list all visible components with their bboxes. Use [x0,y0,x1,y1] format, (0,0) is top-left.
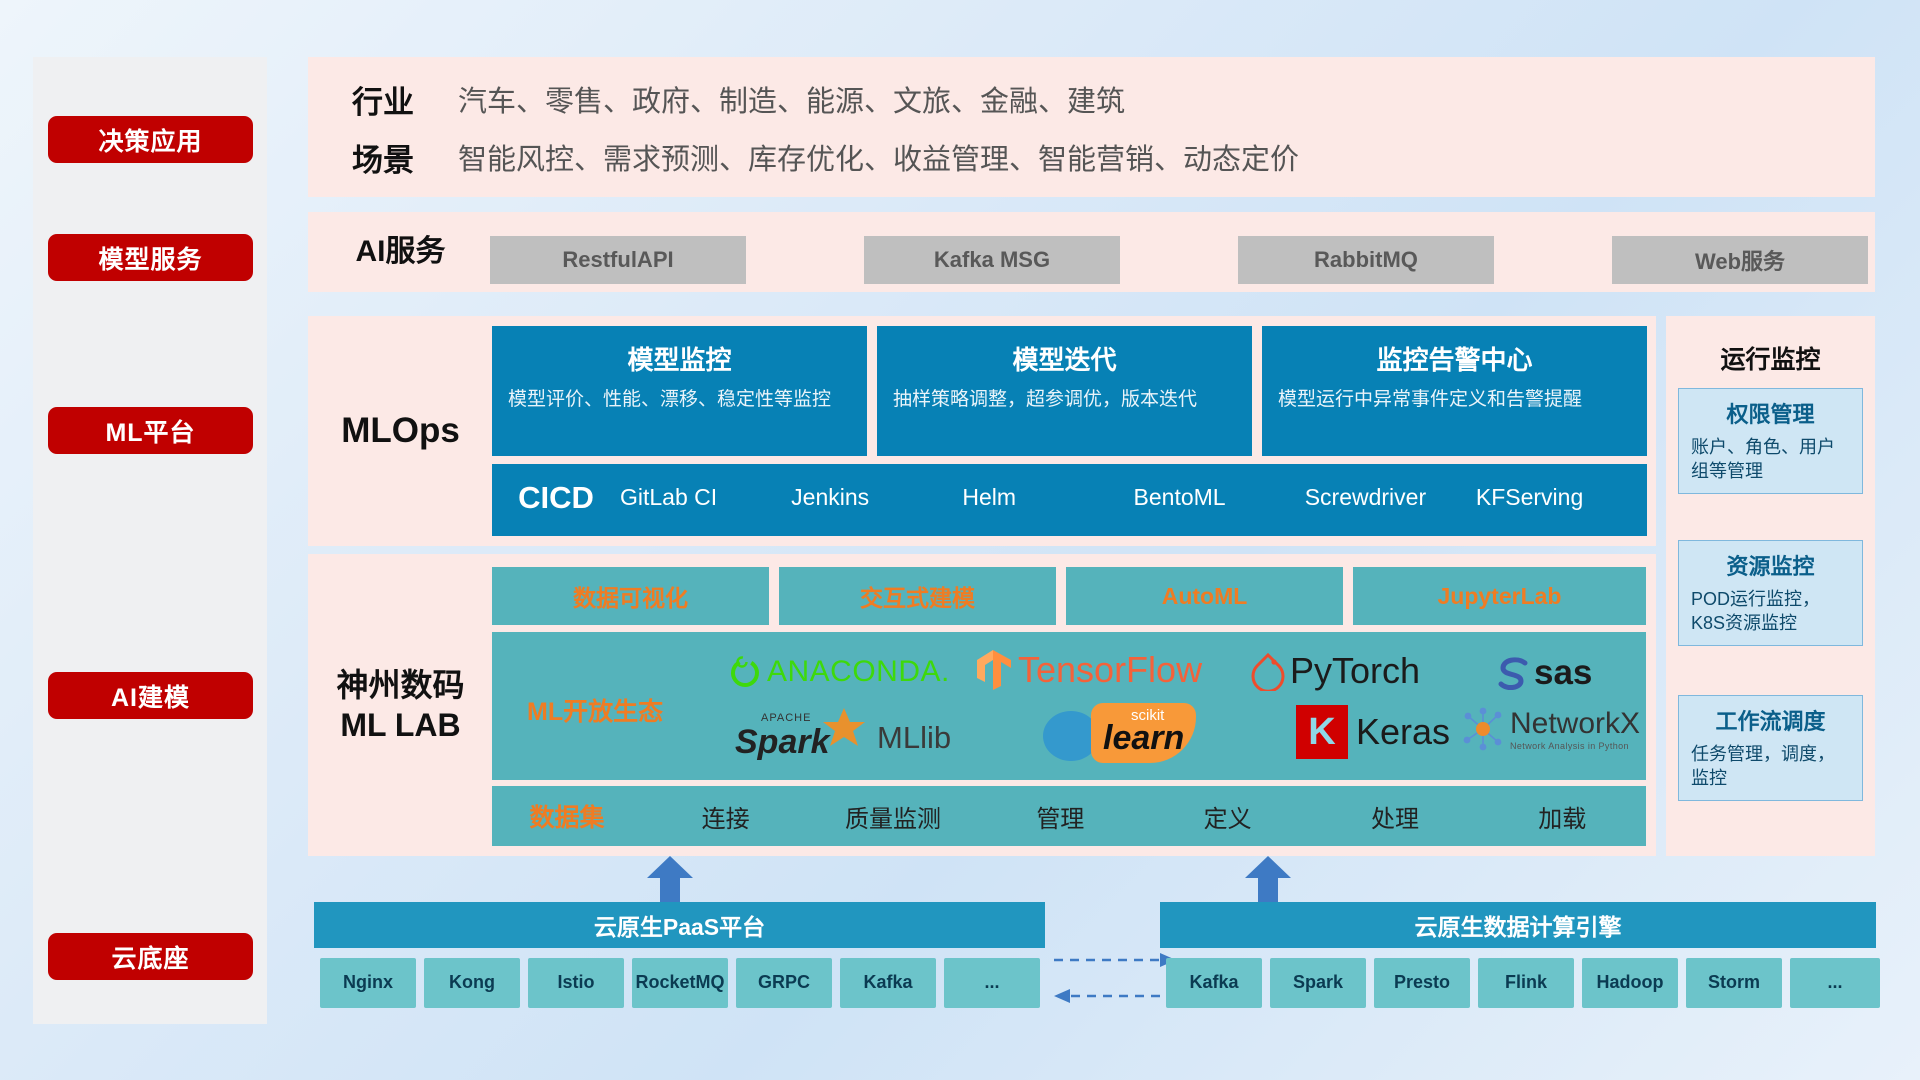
scikit-learn-text: learn [1103,719,1184,758]
cloud-chip-presto[interactable]: Presto [1374,958,1470,1008]
monitoring-card-resource[interactable]: 资源监控 POD运行监控，K8S资源监控 [1678,540,1863,646]
networkx-mark-icon [1460,706,1506,752]
dataset-bar: 数据集 连接 质量监测 管理 定义 处理 加载 [492,786,1646,846]
arrow-up-paas-icon [645,856,695,902]
bidirectional-dashed-connector-icon [1050,948,1180,1008]
decision-application-band: 行业 汽车、零售、政府、制造、能源、文旅、金融、建筑 场景 智能风控、需求预测、… [308,57,1875,197]
dataset-item-processing[interactable]: 处理 [1311,799,1478,834]
cloud-chip-kafka[interactable]: Kafka [840,958,936,1008]
pytorch-logo: PyTorch [1250,650,1420,692]
dataset-item-management[interactable]: 管理 [977,799,1144,834]
scene-label: 场景 [308,135,458,180]
ai-service-chip-rabbitmq[interactable]: RabbitMQ [1238,236,1494,284]
spark-mllib-logo: APACHE Spark MLlib [735,712,951,764]
mlops-card-desc: 模型评价、性能、漂移、稳定性等监控 [508,387,851,413]
cloud-chip-kong[interactable]: Kong [424,958,520,1008]
monitoring-card-desc: 任务管理，调度，监控 [1691,742,1850,791]
layer-tag-model-service[interactable]: 模型服务 [48,234,253,281]
cloud-chip-istio[interactable]: Istio [528,958,624,1008]
ai-service-chip-kafka-msg[interactable]: Kafka MSG [864,236,1120,284]
sas-logo-text: sas [1534,653,1592,693]
tensorflow-mark-icon [975,648,1015,692]
scene-row: 场景 智能风控、需求预测、库存优化、收益管理、智能营销、动态定价 [308,129,1875,185]
cicd-item-kfserving[interactable]: KFServing [1476,464,1647,512]
anaconda-logo: ANACONDA. [728,655,950,689]
layer-tag-decision[interactable]: 决策应用 [48,116,253,163]
cloud-chip-nginx[interactable]: Nginx [320,958,416,1008]
anaconda-mark-icon [728,655,762,689]
left-layer-rail [33,57,267,1024]
cloud-chip-spark[interactable]: Spark [1270,958,1366,1008]
monitoring-card-desc: 账户、角色、用户组等管理 [1691,435,1850,484]
cloud-chip-flink[interactable]: Flink [1478,958,1574,1008]
tensorflow-logo: TensorFlow [975,648,1202,692]
mlops-card-title: 模型监控 [508,340,851,377]
cicd-bar: CICD GitLab CI Jenkins Helm BentoML Scre… [492,464,1647,536]
industry-value: 汽车、零售、政府、制造、能源、文旅、金融、建筑 [458,78,1125,120]
networkx-logo-text: NetworkX [1510,707,1640,741]
monitoring-card-desc: POD运行监控，K8S资源监控 [1691,587,1850,636]
cloud-chip-more-right[interactable]: ... [1790,958,1880,1008]
mlops-card-desc: 模型运行中异常事件定义和告警提醒 [1278,387,1631,413]
ml-open-ecosystem-label: ML开放生态 [527,692,663,728]
dataset-item-quality-monitoring[interactable]: 质量监测 [809,799,976,834]
anaconda-logo-text: ANACONDA. [767,655,950,689]
monitoring-card-workflow[interactable]: 工作流调度 任务管理，调度，监控 [1678,695,1863,801]
cloud-chip-rocketmq[interactable]: RocketMQ [632,958,728,1008]
industry-label: 行业 [308,77,458,122]
ai-service-chip-web-service[interactable]: Web服务 [1612,236,1868,284]
tool-chip-interactive-modeling[interactable]: 交互式建模 [779,567,1056,625]
cicd-item-helm[interactable]: Helm [962,464,1133,512]
mlops-label: MLOps [308,316,493,546]
dataset-item-loading[interactable]: 加载 [1479,799,1646,834]
cloud-chip-storm[interactable]: Storm [1686,958,1782,1008]
dataset-item-definition[interactable]: 定义 [1144,799,1311,834]
sas-mark-icon [1495,655,1533,691]
cicd-label: CICD [492,464,620,516]
mllib-logo-text: MLlib [877,720,951,756]
sas-logo: sas [1495,653,1592,693]
dataset-label: 数据集 [492,798,642,834]
monitoring-card-title: 资源监控 [1691,549,1850,581]
arrow-up-data-engine-icon [1243,856,1293,902]
layer-tag-ml-platform[interactable]: ML平台 [48,407,253,454]
ml-lab-label: 神州数码 ML LAB [308,554,493,856]
monitoring-card-permission[interactable]: 权限管理 账户、角色、用户组等管理 [1678,388,1863,494]
ml-lab-label-line2: ML LAB [340,705,460,745]
cloud-native-paas-bar[interactable]: 云原生PaaS平台 [314,902,1045,948]
monitoring-title: 运行监控 [1666,340,1875,376]
pytorch-logo-text: PyTorch [1290,650,1420,692]
mlops-card-model-monitoring[interactable]: 模型监控 模型评价、性能、漂移、稳定性等监控 [492,326,867,456]
tool-chip-data-visualization[interactable]: 数据可视化 [492,567,769,625]
ml-lab-label-line1: 神州数码 [336,665,464,705]
mlops-card-desc: 抽样策略调整，超参调优，版本迭代 [893,387,1236,413]
cloud-chip-hadoop[interactable]: Hadoop [1582,958,1678,1008]
pytorch-mark-icon [1250,651,1286,691]
mlops-card-model-iteration[interactable]: 模型迭代 抽样策略调整，超参调优，版本迭代 [877,326,1252,456]
mlops-card-alert-center[interactable]: 监控告警中心 模型运行中异常事件定义和告警提醒 [1262,326,1647,456]
networkx-logo: NetworkX Network Analysis in Python [1460,706,1640,752]
keras-mark-icon: K [1296,705,1348,759]
layer-tag-cloud-base[interactable]: 云底座 [48,933,253,980]
cicd-item-screwdriver[interactable]: Screwdriver [1305,464,1476,512]
spark-logo-text: Spark [735,723,830,762]
monitoring-card-title: 权限管理 [1691,397,1850,429]
cicd-item-bentoml[interactable]: BentoML [1134,464,1305,512]
tool-chip-automl[interactable]: AutoML [1066,567,1343,625]
monitoring-card-title: 工作流调度 [1691,704,1850,736]
mlops-card-title: 模型迭代 [893,340,1236,377]
architecture-diagram: 决策应用 模型服务 ML平台 AI建模 云底座 行业 汽车、零售、政府、制造、能… [0,0,1920,1080]
keras-logo: K Keras [1296,705,1450,759]
scene-value: 智能风控、需求预测、库存优化、收益管理、智能营销、动态定价 [458,136,1299,178]
cloud-chip-grpc[interactable]: GRPC [736,958,832,1008]
industry-row: 行业 汽车、零售、政府、制造、能源、文旅、金融、建筑 [308,71,1875,127]
layer-tag-ai-modeling[interactable]: AI建模 [48,672,253,719]
cloud-chip-more-left[interactable]: ... [944,958,1040,1008]
cloud-chip-kafka-right[interactable]: Kafka [1166,958,1262,1008]
cicd-item-jenkins[interactable]: Jenkins [791,464,962,512]
mlops-card-title: 监控告警中心 [1278,340,1631,377]
cloud-native-data-engine-bar[interactable]: 云原生数据计算引擎 [1160,902,1876,948]
tensorflow-logo-text: TensorFlow [1018,649,1202,691]
ai-service-label: AI服务 [308,212,493,292]
keras-mark-letter: K [1308,711,1335,754]
keras-logo-text: Keras [1356,711,1450,753]
tool-chip-jupyterlab[interactable]: JupyterLab [1353,567,1646,625]
cicd-item-gitlab-ci[interactable]: GitLab CI [620,464,791,512]
networkx-subtitle: Network Analysis in Python [1510,741,1640,751]
scikit-learn-logo: scikit learn [1043,703,1211,765]
ai-service-chip-restfulapi[interactable]: RestfulAPI [490,236,746,284]
dataset-item-connect[interactable]: 连接 [642,799,809,834]
